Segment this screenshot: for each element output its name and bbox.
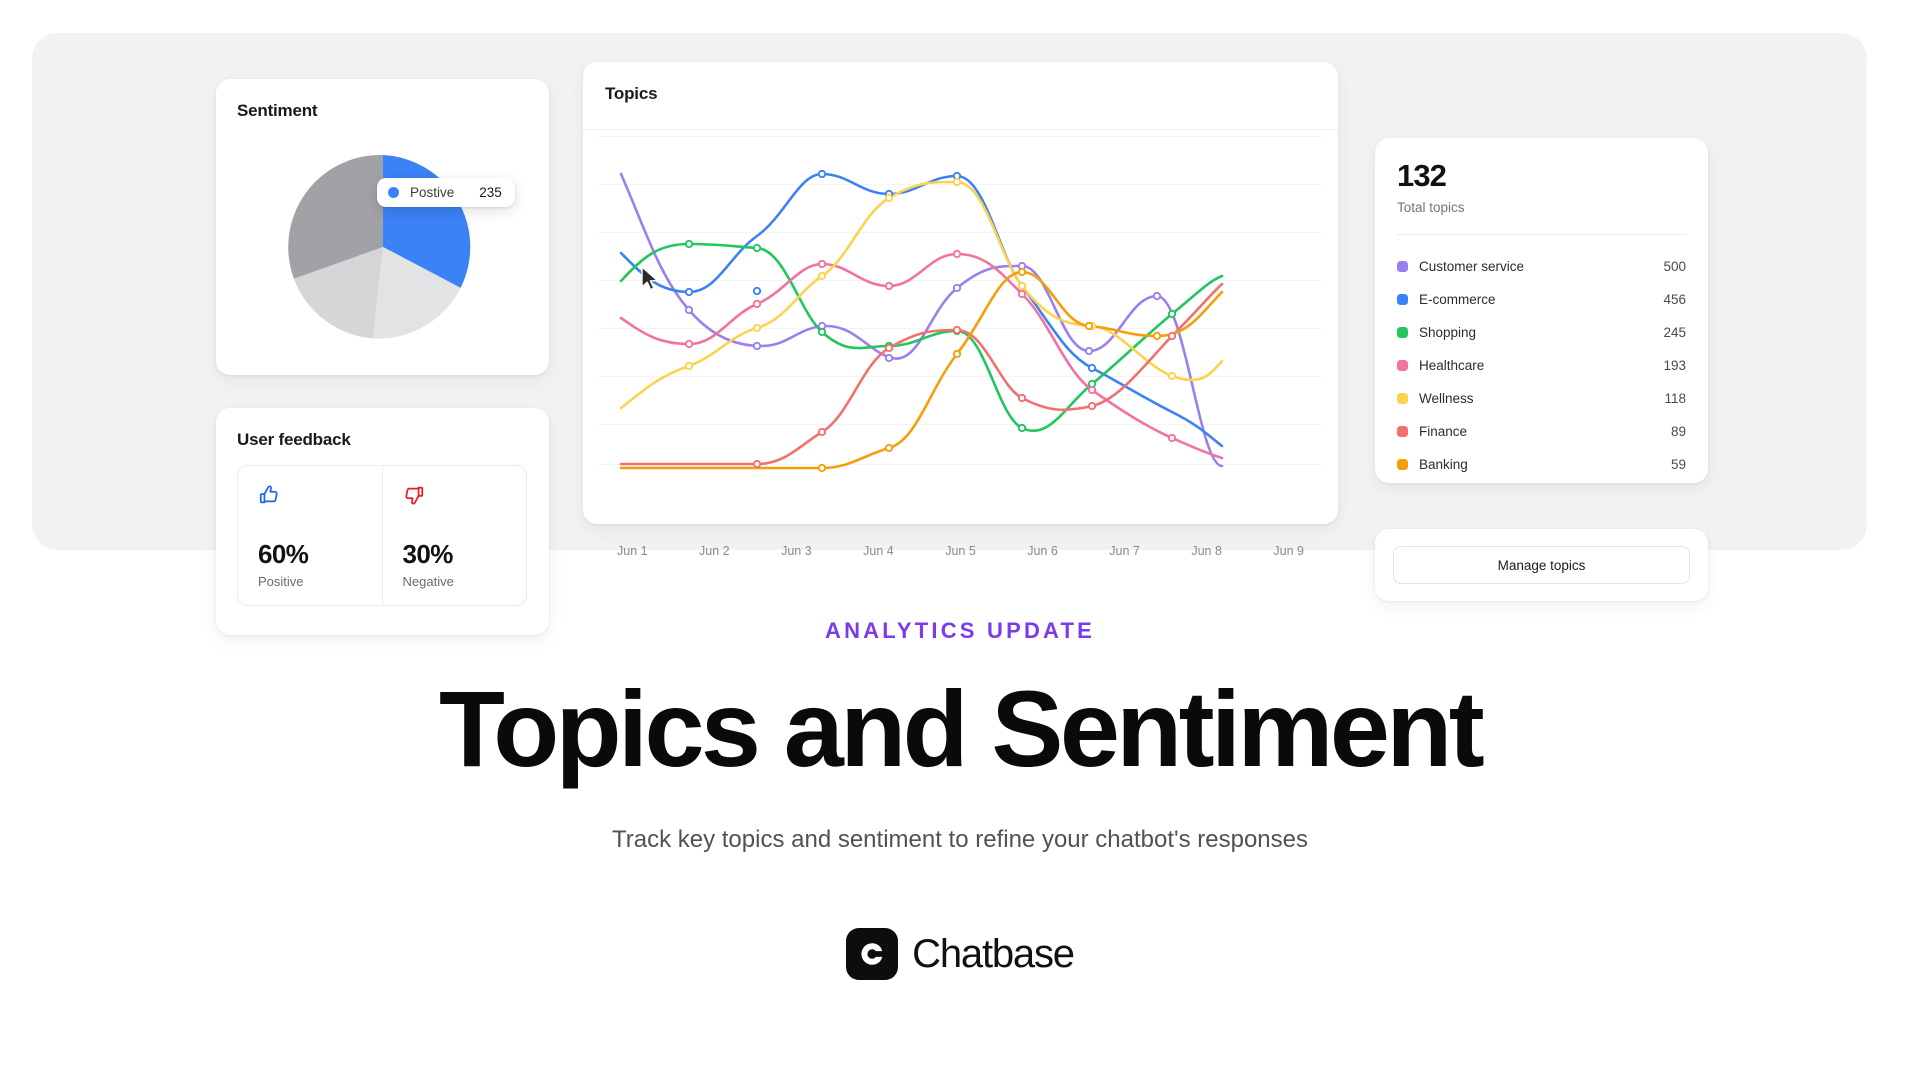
list-item[interactable]: Wellness 118: [1397, 382, 1686, 415]
x-tick-0: Jun 1: [617, 544, 648, 558]
list-item[interactable]: Finance 89: [1397, 415, 1686, 448]
sentiment-card: Sentiment Postive 235: [216, 79, 549, 375]
chart-series-group: [621, 174, 1222, 468]
topics-line-chart[interactable]: [599, 136, 1322, 476]
list-item[interactable]: Shopping 245: [1397, 316, 1686, 349]
thumbs-up-icon: [258, 484, 280, 506]
topic-count: 118: [1664, 391, 1686, 406]
topic-color-dot: [1397, 459, 1408, 470]
topics-card-divider: [583, 129, 1338, 130]
x-tick-6: Jun 7: [1109, 544, 1140, 558]
list-item[interactable]: Healthcare 193: [1397, 349, 1686, 382]
x-tick-5: Jun 6: [1027, 544, 1058, 558]
topic-label: Wellness: [1419, 391, 1664, 406]
manage-topics-button[interactable]: Manage topics: [1393, 546, 1690, 584]
topic-label: Banking: [1419, 457, 1671, 472]
mouse-cursor-icon: [640, 266, 660, 292]
topics-chart-x-axis: Jun 1 Jun 2 Jun 3 Jun 4 Jun 5 Jun 6 Jun …: [599, 544, 1322, 558]
topic-count: 89: [1671, 424, 1686, 439]
topic-label: Shopping: [1419, 325, 1663, 340]
sentiment-pie-chart[interactable]: Postive 235: [240, 135, 525, 360]
x-tick-7: Jun 8: [1191, 544, 1222, 558]
page-title: Topics and Sentiment: [0, 672, 1920, 786]
topic-label: E-commerce: [1419, 292, 1663, 307]
topics-chart-svg: [599, 136, 1322, 476]
total-topics-card: 132 Total topics Customer service 500 E-…: [1375, 138, 1708, 483]
x-tick-2: Jun 3: [781, 544, 812, 558]
feedback-cell-positive: 60% Positive: [238, 466, 382, 605]
sentiment-card-title: Sentiment: [237, 101, 317, 121]
user-feedback-card: User feedback 60% Positive 30% Negative: [216, 408, 549, 635]
list-item[interactable]: E-commerce 456: [1397, 283, 1686, 316]
topic-count: 500: [1663, 259, 1686, 274]
page-root: Sentiment Postive 235: [0, 0, 1920, 1080]
topic-legend-list: Customer service 500 E-commerce 456 Shop…: [1397, 250, 1686, 481]
hero-subtitle: Track key topics and sentiment to refine…: [0, 826, 1920, 854]
total-topics-label: Total topics: [1397, 200, 1465, 215]
x-tick-8: Jun 9: [1273, 544, 1304, 558]
list-item[interactable]: Customer service 500: [1397, 250, 1686, 283]
feedback-cell-negative: 30% Negative: [382, 466, 527, 605]
topic-label: Finance: [1419, 424, 1671, 439]
topic-color-dot: [1397, 327, 1408, 338]
user-feedback-metrics-box: 60% Positive 30% Negative: [237, 465, 527, 606]
list-item[interactable]: Banking 59: [1397, 448, 1686, 481]
x-tick-4: Jun 5: [945, 544, 976, 558]
chatbase-brand-lockup: Chatbase: [0, 928, 1920, 980]
feedback-negative-label: Negative: [403, 574, 527, 589]
chatbase-logo-icon: [846, 928, 898, 980]
topic-label: Customer service: [1419, 259, 1663, 274]
hero-eyebrow: ANALYTICS UPDATE: [0, 618, 1920, 644]
topic-color-dot: [1397, 360, 1408, 371]
topic-label: Healthcare: [1419, 358, 1663, 373]
feedback-positive-percent: 60%: [258, 541, 382, 567]
thumbs-down-icon: [403, 484, 425, 506]
topics-card-title: Topics: [605, 84, 657, 104]
series-line-banking: [621, 272, 1222, 468]
topics-chart-card: Topics: [583, 62, 1338, 524]
user-feedback-card-title: User feedback: [237, 430, 351, 450]
pie-tooltip-color-dot: [388, 187, 399, 198]
topic-count: 245: [1663, 325, 1686, 340]
pie-tooltip-label: Postive: [410, 185, 454, 200]
letter-c-glyph: [856, 938, 888, 970]
topic-color-dot: [1397, 261, 1408, 272]
pie-tooltip: Postive 235: [377, 178, 515, 207]
series-line-wellness: [621, 182, 1222, 408]
pie-tooltip-value: 235: [479, 185, 502, 200]
topic-count: 193: [1663, 358, 1686, 373]
topic-color-dot: [1397, 294, 1408, 305]
chatbase-wordmark: Chatbase: [912, 932, 1074, 977]
x-tick-1: Jun 2: [699, 544, 730, 558]
topic-count: 59: [1671, 457, 1686, 472]
topic-count: 456: [1663, 292, 1686, 307]
topic-color-dot: [1397, 426, 1408, 437]
manage-topics-card: Manage topics: [1375, 529, 1708, 601]
feedback-negative-percent: 30%: [403, 541, 527, 567]
topic-color-dot: [1397, 393, 1408, 404]
series-line-customer-service: [621, 174, 1222, 466]
pie-svg: [268, 135, 498, 360]
feedback-positive-label: Positive: [258, 574, 382, 589]
x-tick-3: Jun 4: [863, 544, 894, 558]
total-topics-value: 132: [1397, 160, 1446, 191]
total-topics-divider: [1397, 234, 1686, 235]
